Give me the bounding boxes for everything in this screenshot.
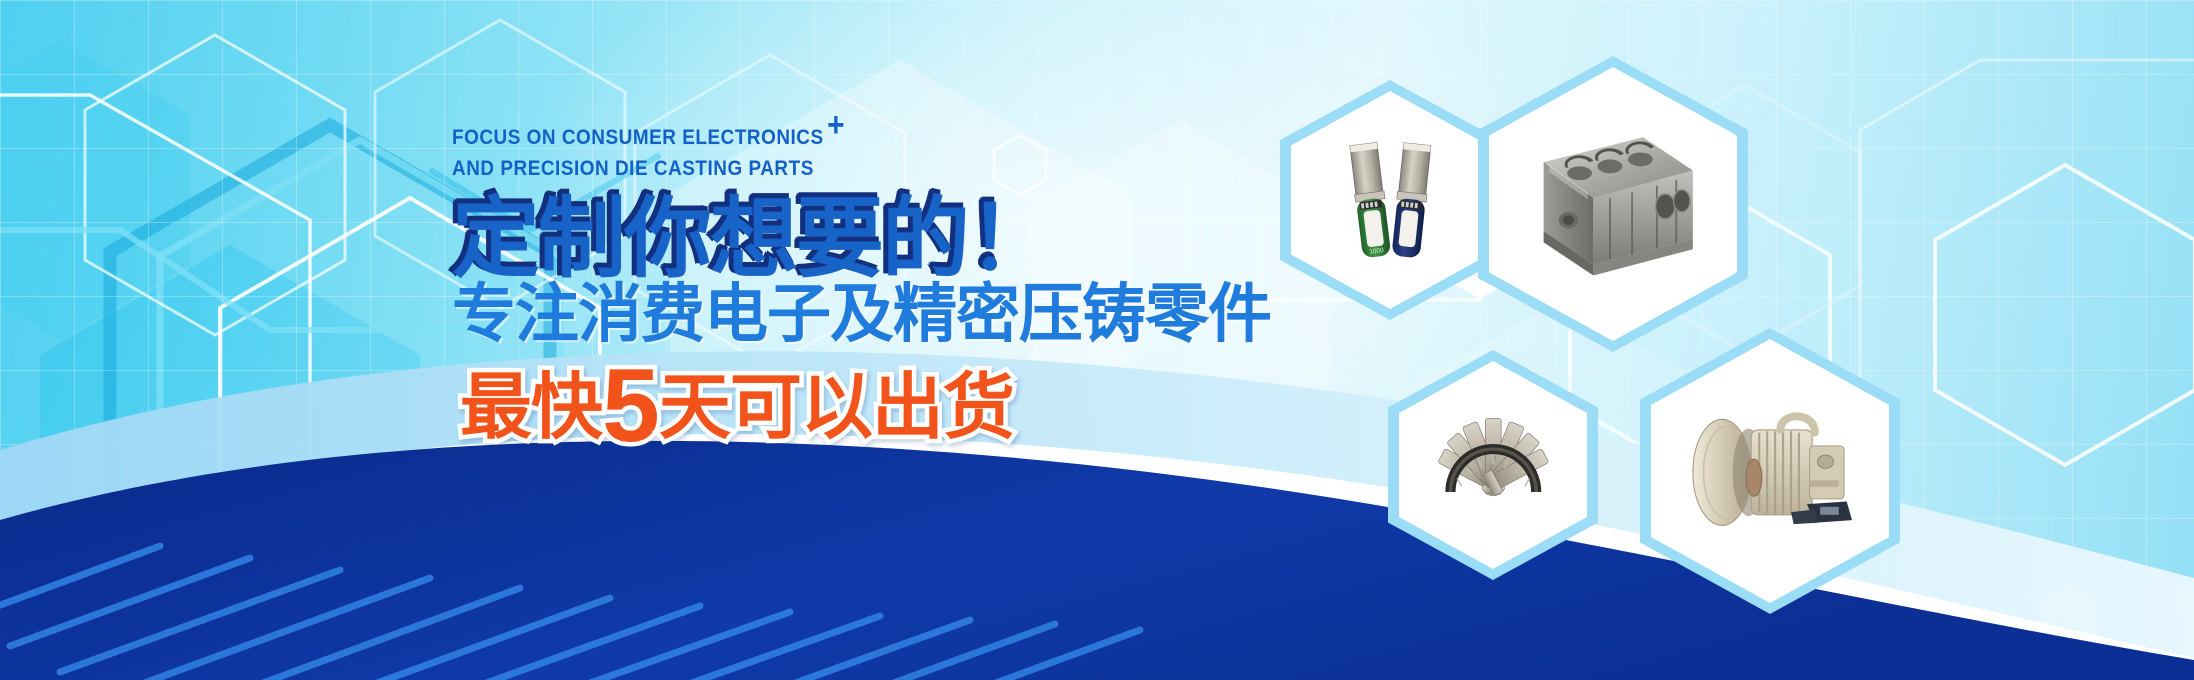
promo-number: 5 [602, 348, 659, 464]
photo-aluminium-engine-block [1516, 105, 1709, 302]
tagline-english-line1: FOCUS ON CONSUMER ELECTRONICS+ [452, 122, 1244, 153]
photo-beige-motor-housing [1677, 376, 1863, 566]
product-hex-stamped-metal-fan-assembly[interactable] [1388, 350, 1598, 580]
hex-photo-mask [1651, 339, 1889, 603]
product-hex-beige-motor-housing[interactable] [1640, 328, 1900, 614]
hex-frame [1388, 350, 1598, 580]
hex-photo-mask: 1000 [1291, 91, 1489, 309]
hex-frame [1478, 56, 1748, 352]
plus-icon: + [827, 106, 845, 144]
promo-prefix: 最快 [460, 368, 602, 448]
subheadline-chinese: 专注消费电子及精密压铸零件 [452, 281, 1352, 349]
promo-delivery-line: 最快5天可以出货 [460, 360, 1352, 454]
tagline-english-line2: AND PRECISION DIE CASTING PARTS [452, 153, 1244, 184]
photo-stamped-metal-fan-assembly [1420, 390, 1567, 540]
hex-photo-mask [1399, 361, 1587, 569]
product-hex-sfp-transceiver-modules[interactable]: 1000 [1280, 80, 1500, 320]
headline-chinese: 定制你想要的！ [452, 193, 1352, 285]
photo-sfp-transceiver-modules: 1000 [1313, 122, 1467, 279]
hex-photo-mask [1489, 67, 1737, 341]
promo-suffix: 天可以出货 [659, 368, 1014, 448]
headline-copy-block: FOCUS ON CONSUMER ELECTRONICS+ AND PRECI… [452, 122, 1352, 454]
promotional-banner: FOCUS ON CONSUMER ELECTRONICS+ AND PRECI… [0, 0, 2194, 680]
tagline-line1-text: FOCUS ON CONSUMER ELECTRONICS [452, 125, 824, 149]
hex-frame [1640, 328, 1900, 614]
hex-frame: 1000 [1280, 80, 1500, 320]
product-hex-aluminium-engine-block[interactable] [1478, 56, 1748, 352]
